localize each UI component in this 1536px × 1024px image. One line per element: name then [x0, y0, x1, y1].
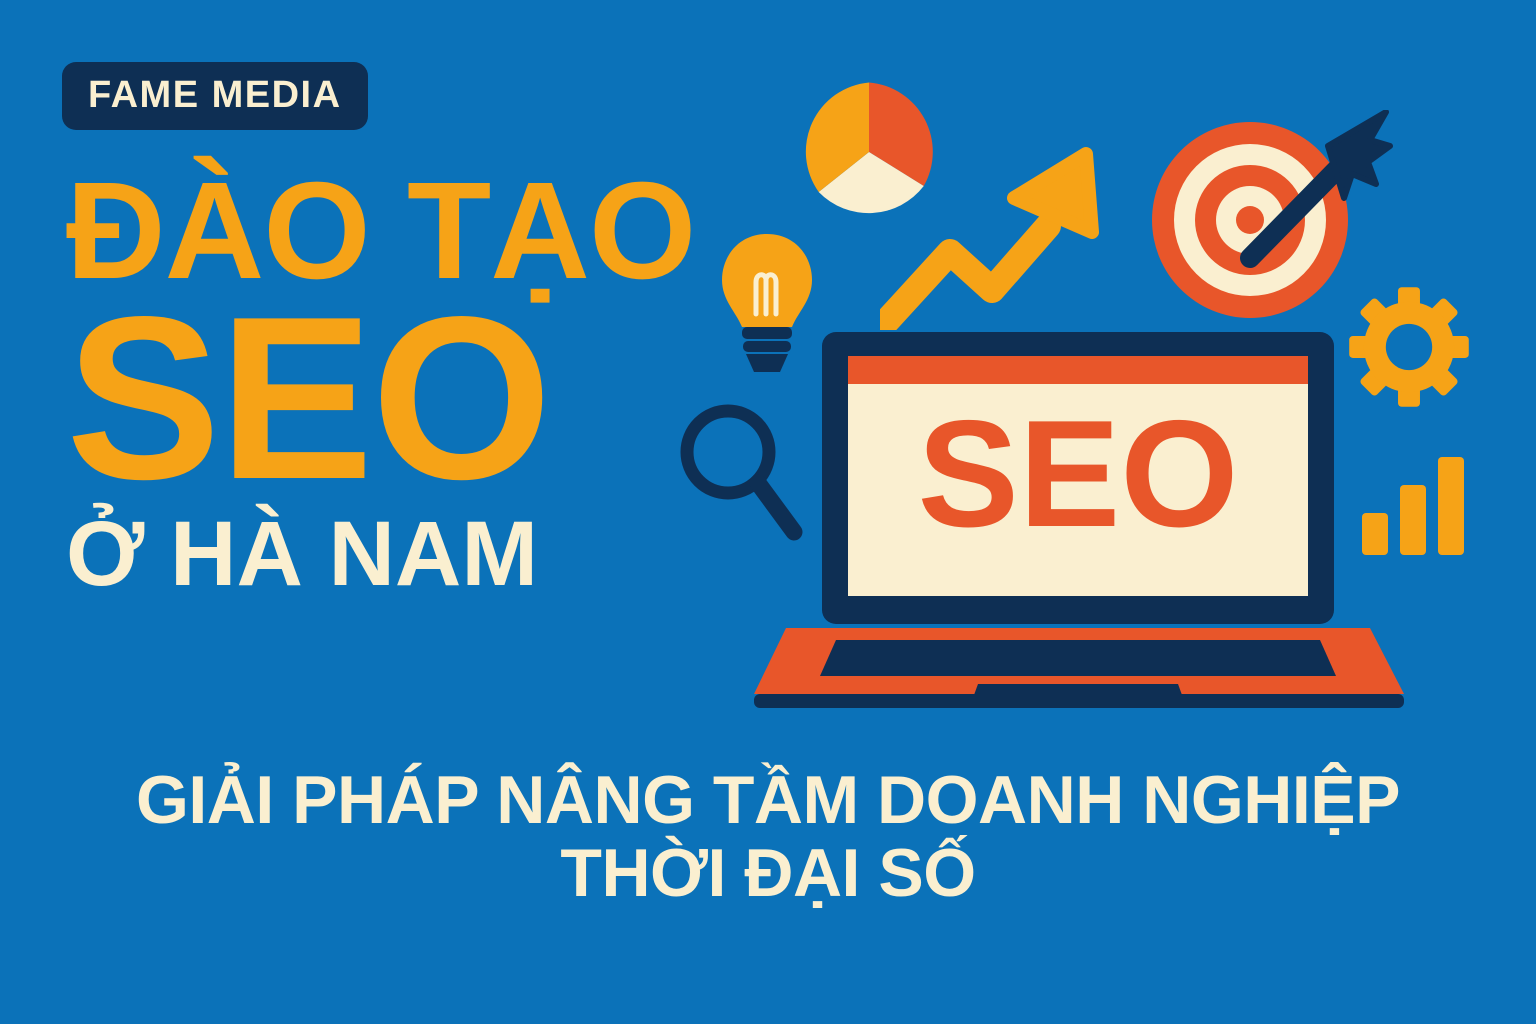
poster-canvas: SEO FAME MEDIA ĐÀO TẠO SEO Ở HÀ NAM GIẢI… — [0, 0, 1536, 1024]
headline-block: ĐÀO TẠO SEO Ở HÀ NAM — [66, 168, 766, 600]
headline-line-2: SEO — [66, 299, 766, 499]
subtitle-block: GIẢI PHÁP NÂNG TẦM DOANH NGHIỆP THỜI ĐẠI… — [0, 766, 1536, 909]
dart-arrow-icon — [1218, 110, 1398, 270]
headline-line-3: Ở HÀ NAM — [66, 508, 766, 600]
laptop-icon: SEO — [752, 328, 1404, 728]
subtitle-line-2: THỜI ĐẠI SỐ — [0, 839, 1536, 908]
brand-badge[interactable]: FAME MEDIA — [62, 62, 368, 130]
subtitle-line-1: GIẢI PHÁP NÂNG TẦM DOANH NGHIỆP — [0, 766, 1536, 835]
laptop-screen-text: SEO — [918, 389, 1239, 559]
brand-badge-label: FAME MEDIA — [88, 76, 342, 114]
growth-arrow-icon — [880, 140, 1100, 330]
